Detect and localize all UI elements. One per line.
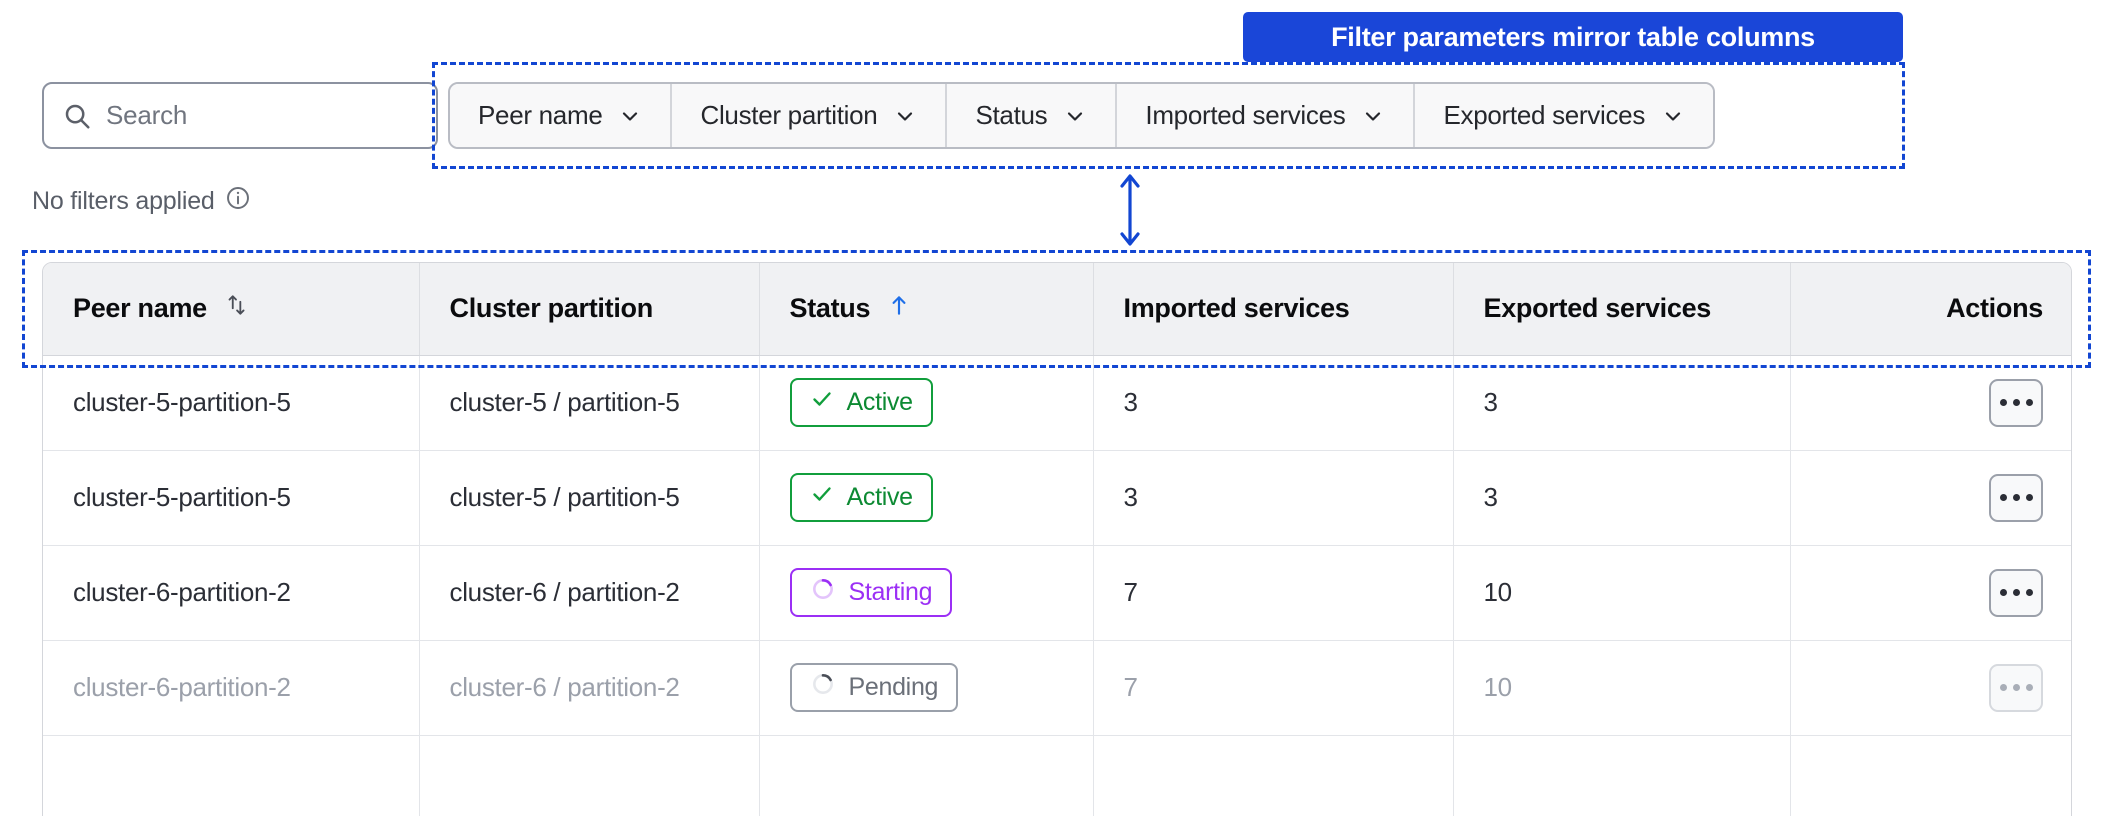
cell-peer-name: cluster-6-partition-2 bbox=[43, 545, 419, 640]
cell-peer-name: cluster-5-partition-5 bbox=[43, 450, 419, 545]
arrow-up-icon bbox=[886, 292, 912, 325]
filter-imported-services[interactable]: Imported services bbox=[1117, 84, 1415, 147]
cell-exported-services: 3 bbox=[1453, 450, 1790, 545]
filter-status[interactable]: Status bbox=[947, 84, 1117, 147]
status-badge-label: Starting bbox=[849, 578, 933, 607]
chevron-down-icon bbox=[1361, 104, 1385, 128]
row-actions-button[interactable] bbox=[1989, 379, 2043, 427]
cell-actions bbox=[1790, 450, 2072, 545]
chevron-down-icon bbox=[1063, 104, 1087, 128]
status-badge-label: Pending bbox=[849, 673, 939, 702]
cell-imported-services: 3 bbox=[1093, 355, 1453, 450]
cell-actions bbox=[1790, 545, 2072, 640]
cell-status: Starting bbox=[759, 545, 1093, 640]
column-header-peer-name-label: Peer name bbox=[73, 293, 207, 324]
column-header-cluster-partition[interactable]: Cluster partition bbox=[419, 263, 759, 355]
info-icon[interactable] bbox=[225, 185, 251, 218]
peering-table-screen: Filter parameters mirror table columns S… bbox=[0, 0, 2118, 816]
check-icon bbox=[810, 482, 834, 513]
column-header-status-label: Status bbox=[790, 293, 871, 324]
row-actions-button[interactable] bbox=[1989, 664, 2043, 712]
column-header-cluster-partition-label: Cluster partition bbox=[450, 293, 653, 324]
table-row[interactable] bbox=[43, 735, 2072, 816]
table-body: cluster-5-partition-5 cluster-5 / partit… bbox=[43, 355, 2072, 816]
filter-toolbar: Search Peer name Cluster partition Statu… bbox=[42, 82, 1715, 149]
cell-cluster-partition: cluster-5 / partition-5 bbox=[419, 450, 759, 545]
callout-text: Filter parameters mirror table columns bbox=[1331, 22, 1815, 53]
cell-cluster-partition bbox=[419, 735, 759, 816]
chevron-down-icon bbox=[618, 104, 642, 128]
peers-table: Peer name Cluster partition bbox=[42, 262, 2072, 816]
cell-imported-services: 7 bbox=[1093, 640, 1453, 735]
filter-peer-name-label: Peer name bbox=[478, 100, 602, 131]
column-header-exported-services[interactable]: Exported services bbox=[1453, 263, 1790, 355]
status-badge: Pending bbox=[790, 663, 959, 712]
status-badge: Active bbox=[790, 378, 933, 427]
table-row[interactable]: cluster-5-partition-5 cluster-5 / partit… bbox=[43, 450, 2072, 545]
cell-exported-services bbox=[1453, 735, 1790, 816]
row-actions-button[interactable] bbox=[1989, 569, 2043, 617]
filter-cluster-partition[interactable]: Cluster partition bbox=[672, 84, 947, 147]
search-icon bbox=[62, 101, 92, 131]
sort-updown-icon bbox=[223, 292, 249, 325]
callout-banner: Filter parameters mirror table columns bbox=[1243, 12, 1903, 62]
search-input[interactable]: Search bbox=[42, 82, 438, 149]
cell-actions bbox=[1790, 735, 2072, 816]
filter-exported-services[interactable]: Exported services bbox=[1415, 84, 1713, 147]
annotation-connector-arrow bbox=[1110, 170, 1150, 255]
table-row[interactable]: cluster-5-partition-5 cluster-5 / partit… bbox=[43, 355, 2072, 450]
cell-status: Pending bbox=[759, 640, 1093, 735]
column-header-actions-label: Actions bbox=[1946, 293, 2043, 324]
filter-status-text: No filters applied bbox=[32, 185, 251, 218]
spinner-icon bbox=[810, 671, 836, 704]
cell-cluster-partition: cluster-6 / partition-2 bbox=[419, 545, 759, 640]
spinner-icon bbox=[810, 576, 836, 609]
filter-button-group: Peer name Cluster partition Status Impor… bbox=[448, 82, 1715, 149]
filter-peer-name[interactable]: Peer name bbox=[450, 84, 672, 147]
table-header-row: Peer name Cluster partition bbox=[43, 263, 2072, 355]
table-row[interactable]: cluster-6-partition-2 cluster-6 / partit… bbox=[43, 545, 2072, 640]
column-header-exported-services-label: Exported services bbox=[1484, 293, 1712, 324]
cell-actions bbox=[1790, 355, 2072, 450]
filter-imported-services-label: Imported services bbox=[1145, 100, 1345, 131]
cell-peer-name bbox=[43, 735, 419, 816]
status-badge-label: Active bbox=[847, 388, 913, 417]
cell-peer-name: cluster-6-partition-2 bbox=[43, 640, 419, 735]
cell-cluster-partition: cluster-5 / partition-5 bbox=[419, 355, 759, 450]
column-header-peer-name[interactable]: Peer name bbox=[43, 263, 419, 355]
cell-cluster-partition: cluster-6 / partition-2 bbox=[419, 640, 759, 735]
filter-cluster-partition-label: Cluster partition bbox=[700, 100, 877, 131]
column-header-status[interactable]: Status bbox=[759, 263, 1093, 355]
status-badge: Starting bbox=[790, 568, 953, 617]
table-row[interactable]: cluster-6-partition-2 cluster-6 / partit… bbox=[43, 640, 2072, 735]
cell-imported-services: 7 bbox=[1093, 545, 1453, 640]
status-badge-label: Active bbox=[847, 483, 913, 512]
filter-exported-services-label: Exported services bbox=[1443, 100, 1645, 131]
row-actions-button[interactable] bbox=[1989, 474, 2043, 522]
cell-status bbox=[759, 735, 1093, 816]
cell-actions bbox=[1790, 640, 2072, 735]
no-filters-label: No filters applied bbox=[32, 187, 215, 216]
column-header-imported-services[interactable]: Imported services bbox=[1093, 263, 1453, 355]
cell-status: Active bbox=[759, 450, 1093, 545]
chevron-down-icon bbox=[893, 104, 917, 128]
cell-imported-services bbox=[1093, 735, 1453, 816]
check-icon bbox=[810, 387, 834, 418]
search-placeholder: Search bbox=[106, 100, 187, 131]
cell-imported-services: 3 bbox=[1093, 450, 1453, 545]
cell-peer-name: cluster-5-partition-5 bbox=[43, 355, 419, 450]
cell-status: Active bbox=[759, 355, 1093, 450]
cell-exported-services: 10 bbox=[1453, 545, 1790, 640]
column-header-imported-services-label: Imported services bbox=[1124, 293, 1350, 324]
column-header-actions: Actions bbox=[1790, 263, 2072, 355]
cell-exported-services: 10 bbox=[1453, 640, 1790, 735]
cell-exported-services: 3 bbox=[1453, 355, 1790, 450]
chevron-down-icon bbox=[1661, 104, 1685, 128]
filter-status-label: Status bbox=[975, 100, 1047, 131]
status-badge: Active bbox=[790, 473, 933, 522]
